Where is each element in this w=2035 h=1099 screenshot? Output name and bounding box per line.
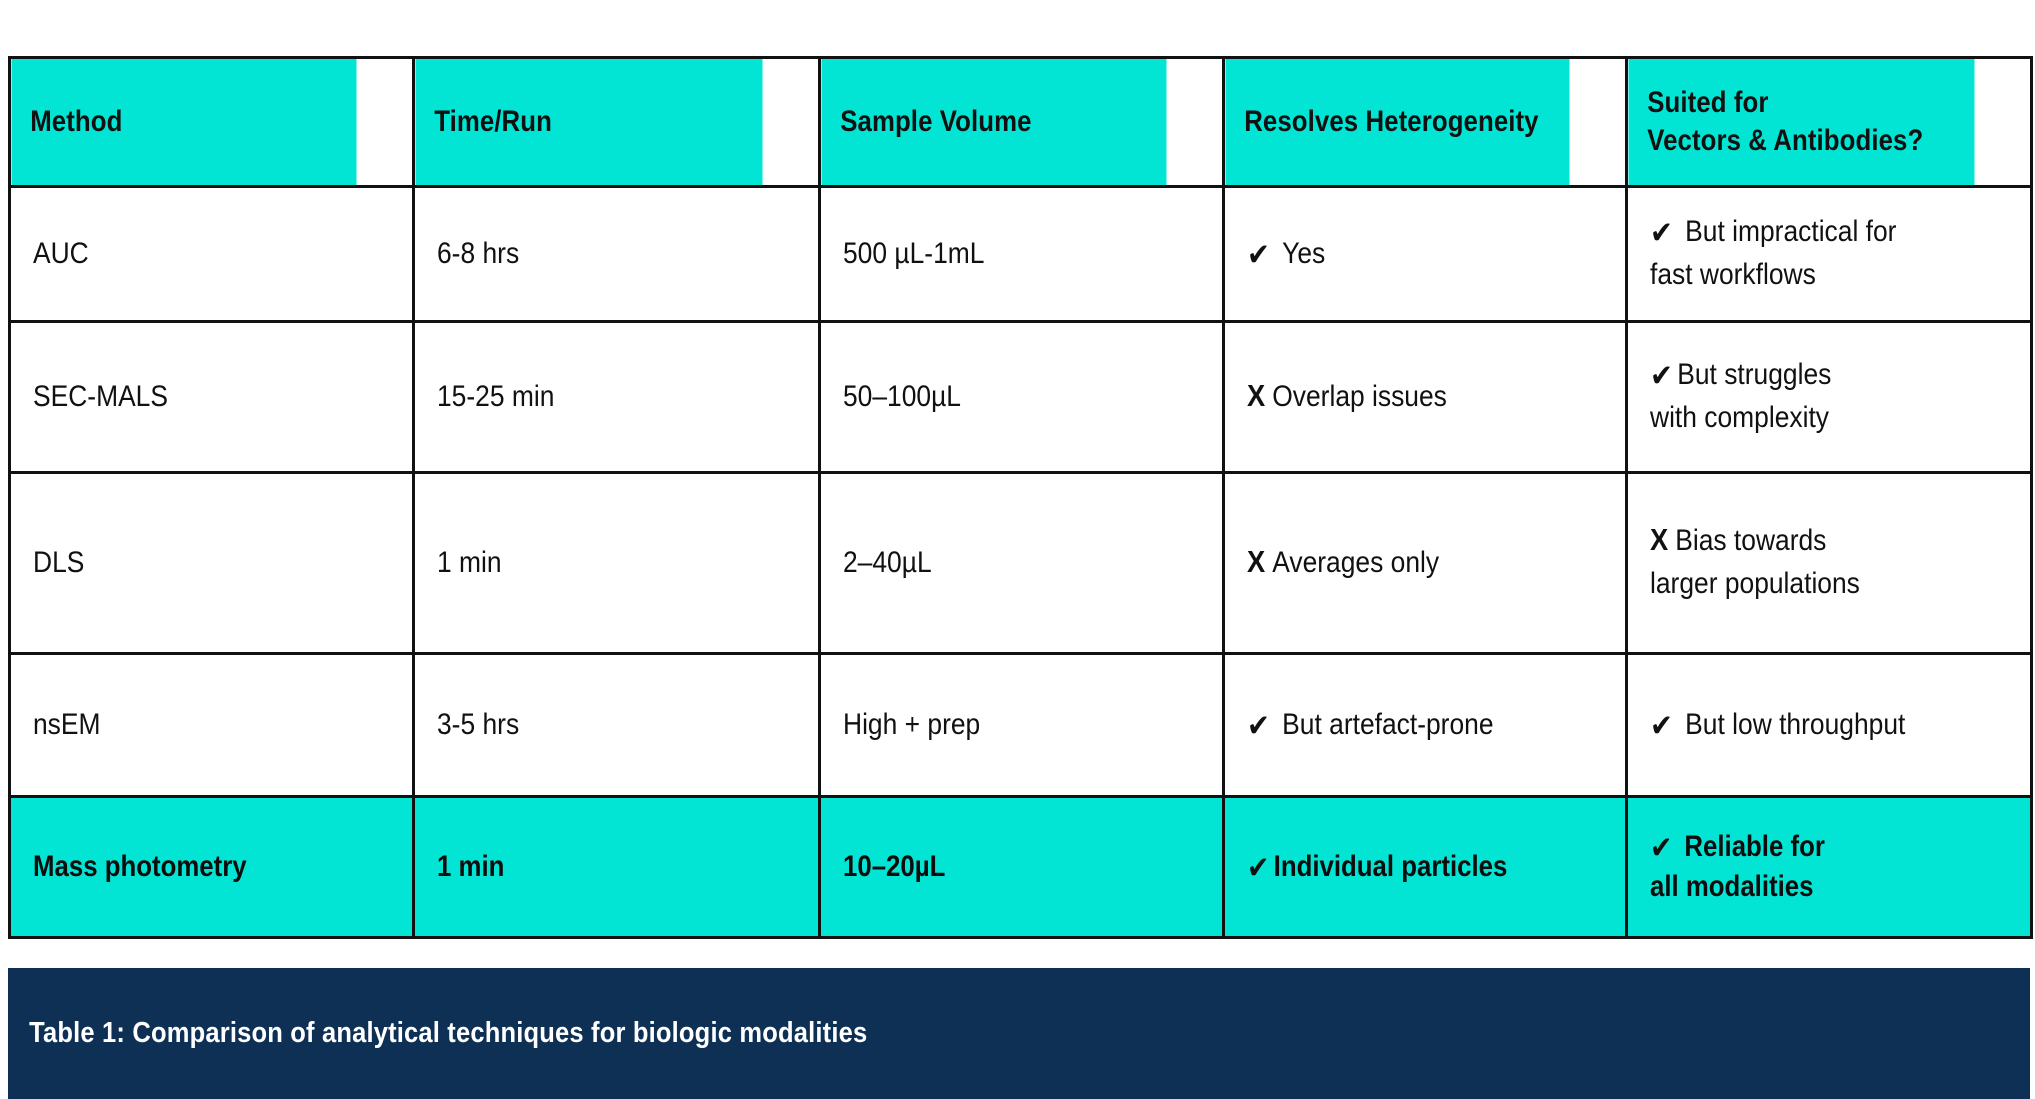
cell-time-per-run: 6-8 hrs — [414, 187, 820, 322]
cell-method: DLS — [10, 473, 414, 654]
table-caption-text: Table 1: Comparison of analytical techni… — [8, 1017, 867, 1050]
cell-resolves-heterogeneity: ✔Individual particles — [1224, 797, 1627, 938]
cell-time-per-run: 3-5 hrs — [414, 654, 820, 797]
cell-sample-volume: 50–100µL — [820, 322, 1224, 473]
cell-time-per-run: 1 min — [414, 797, 820, 938]
cell-sample-volume: High + prep — [820, 654, 1224, 797]
cell-suited-for-text-line-1: Reliable for — [1684, 830, 1825, 863]
cell-resolves-heterogeneity: ✔Yes — [1224, 187, 1627, 322]
cell-sample-volume: 500 µL-1mL — [820, 187, 1224, 322]
check-icon: ✔ — [1247, 853, 1269, 884]
table-row: DLS 1 min 2–40µL XAverages only — [10, 473, 2032, 654]
check-icon: ✔ — [1650, 711, 1673, 742]
cross-icon: X — [1650, 524, 1668, 555]
table-header: Method Time/Run Sample Volume — [10, 58, 2032, 187]
cell-sample-volume: 10–20µL — [820, 797, 1224, 938]
cell-suited-for-text-line-2: fast workflows — [1650, 254, 2006, 297]
cell-suited-for: ✔Reliable for all modalities — [1627, 797, 2032, 938]
cell-suited-for-text-line-2: with complexity — [1650, 397, 2006, 440]
check-icon: ✔ — [1247, 240, 1270, 271]
cell-suited-for-text-line-2: all modalities — [1650, 867, 2007, 908]
check-icon: ✔ — [1650, 218, 1673, 249]
cross-icon: X — [1247, 546, 1265, 577]
table-caption-bar: Table 1: Comparison of analytical techni… — [8, 968, 2030, 1099]
cell-resolves-heterogeneity-text: Averages only — [1272, 546, 1439, 579]
column-header-sample-volume: Sample Volume — [820, 58, 1167, 187]
column-header-suited-for-line-1: Suited for — [1647, 84, 1955, 122]
cell-resolves-heterogeneity: ✔But artefact-prone — [1224, 654, 1627, 797]
comparison-table-container: Method Time/Run Sample Volume — [8, 56, 2030, 939]
cell-suited-for-text-line-1: But struggles — [1677, 358, 1831, 391]
cell-suited-for: ✔But struggles with complexity — [1627, 322, 2032, 473]
cell-resolves-heterogeneity: XOverlap issues — [1224, 322, 1627, 473]
cell-method: SEC-MALS — [10, 322, 414, 473]
table-row: AUC 6-8 hrs 500 µL-1mL ✔Yes — [10, 187, 2032, 322]
column-header-resolves-heterogeneity: Resolves Heterogeneity — [1224, 58, 1571, 187]
table-page: Method Time/Run Sample Volume — [0, 0, 2035, 1099]
check-icon: ✔ — [1650, 833, 1672, 864]
cell-time-per-run: 15-25 min — [414, 322, 820, 473]
table-row: nsEM 3-5 hrs High + prep ✔But artefact-p… — [10, 654, 2032, 797]
column-header-time-per-run: Time/Run — [414, 58, 763, 187]
header-row: Method Time/Run Sample Volume — [10, 58, 2032, 187]
cell-resolves-heterogeneity-text: Yes — [1282, 237, 1325, 270]
cell-resolves-heterogeneity-text: Individual particles — [1274, 850, 1508, 883]
cell-resolves-heterogeneity: XAverages only — [1224, 473, 1627, 654]
cell-time-per-run: 1 min — [414, 473, 820, 654]
cell-suited-for: ✔But impractical for fast workflows — [1627, 187, 2032, 322]
column-header-method-line-1: Method — [30, 103, 337, 141]
cell-resolves-heterogeneity-text: Overlap issues — [1272, 380, 1447, 413]
cell-suited-for-text-line-2: larger populations — [1650, 563, 2006, 606]
column-header-suited-for-line-2: Vectors & Antibodies? — [1647, 122, 1955, 160]
cell-method: Mass photometry — [10, 797, 414, 938]
cell-sample-volume: 2–40µL — [820, 473, 1224, 654]
cell-resolves-heterogeneity-text: But artefact-prone — [1282, 708, 1493, 741]
column-header-method: Method — [10, 58, 357, 187]
column-header-sample-volume-line-1: Sample Volume — [840, 103, 1147, 141]
column-header-suited-for: Suited for Vectors & Antibodies? — [1627, 58, 1975, 187]
cell-suited-for-text-line-1: But impractical for — [1685, 215, 1896, 248]
cell-method: AUC — [10, 187, 414, 322]
cell-suited-for-text-line-1: Bias towards — [1675, 524, 1826, 557]
table-body: AUC 6-8 hrs 500 µL-1mL ✔Yes — [10, 187, 2032, 938]
table-row-highlighted: Mass photometry 1 min 10–20µL ✔Individua… — [10, 797, 2032, 938]
column-header-resolves-heterogeneity-line-1: Resolves Heterogeneity — [1244, 103, 1550, 141]
cell-suited-for-text-line-1: But low throughput — [1685, 708, 1905, 741]
cell-method: nsEM — [10, 654, 414, 797]
table-row: SEC-MALS 15-25 min 50–100µL XOverlap iss… — [10, 322, 2032, 473]
comparison-table: Method Time/Run Sample Volume — [8, 56, 2033, 939]
check-icon: ✔ — [1650, 361, 1673, 392]
check-icon: ✔ — [1247, 711, 1270, 742]
cross-icon: X — [1247, 380, 1265, 411]
cell-suited-for: XBias towards larger populations — [1627, 473, 2032, 654]
column-header-time-per-run-line-1: Time/Run — [434, 103, 743, 141]
cell-suited-for: ✔But low throughput — [1627, 654, 2032, 797]
